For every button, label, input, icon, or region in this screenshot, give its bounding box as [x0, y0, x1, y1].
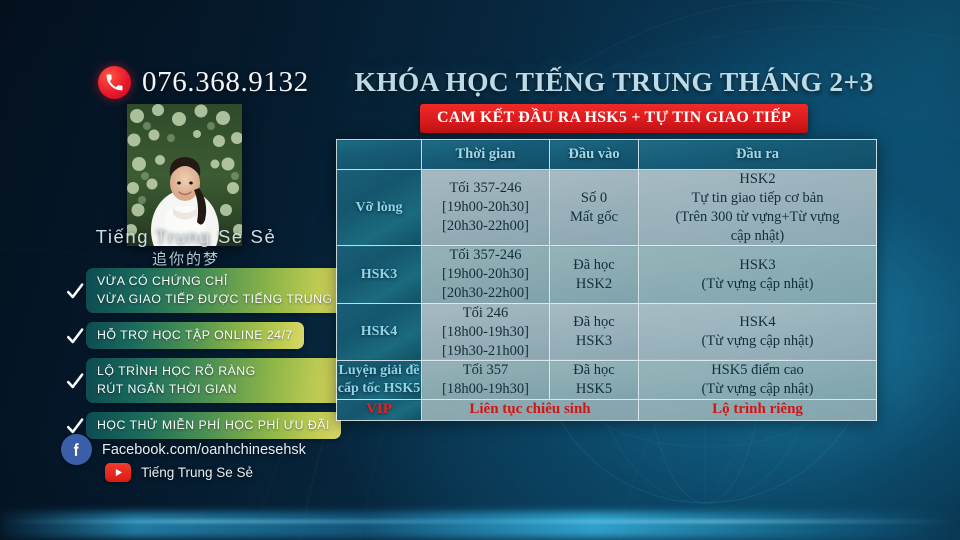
- check-icon: [64, 372, 86, 390]
- column-header-level: [337, 140, 422, 170]
- table-row: Luyện giải đề cấp tốc HSK5 Tối 357 [18h0…: [337, 361, 877, 400]
- vip-level-cell: VIP: [337, 400, 422, 421]
- bottom-light-line: [0, 520, 960, 523]
- output-cell: HSK5 điểm cao (Từ vựng cập nhật): [639, 361, 877, 400]
- level-cell: HSK3: [337, 246, 422, 304]
- time-line: Tối 357: [422, 361, 549, 380]
- input-line: HSK2: [550, 275, 638, 294]
- benefit-line: VỪA GIAO TIẾP ĐƯỢC TIẾNG TRUNG: [97, 292, 333, 306]
- facebook-icon: [61, 434, 92, 465]
- brand-name: Tiếng Trung Se Sẻ: [56, 226, 316, 248]
- output-line: (Trên 300 từ vựng+Từ vựng: [639, 208, 876, 227]
- time-line: [20h30-22h00]: [422, 217, 549, 236]
- brand-slogan: 追你的梦: [56, 248, 316, 269]
- output-line: (Từ vựng cập nhật): [639, 380, 876, 399]
- benefit-line: HỌC PHÍ ƯU ĐÃI: [225, 418, 330, 432]
- table-row: HSK3 Tối 357-246 [19h00-20h30] [20h30-22…: [337, 246, 877, 304]
- input-line: Số 0: [550, 189, 638, 208]
- output-cell: HSK4 (Từ vựng cập nhật): [639, 303, 877, 361]
- vip-path-cell: Lộ trình riêng: [639, 400, 877, 421]
- time-line: [18h00-19h30]: [422, 323, 549, 342]
- time-cell: Tối 357-246 [19h00-20h30] [20h30-22h00]: [422, 170, 550, 246]
- benefit-item: VỪA CÓ CHỨNG CHỈ VỪA GIAO TIẾP ĐƯỢC TIẾN…: [64, 268, 344, 313]
- time-line: Tối 357-246: [422, 179, 549, 198]
- column-header-output: Đầu ra: [639, 140, 877, 170]
- output-cell: HSK3 (Từ vựng cập nhật): [639, 246, 877, 304]
- time-line: [19h30-21h00]: [422, 342, 549, 361]
- level-line: Vỡ lòng: [355, 200, 402, 215]
- level-line: HSK5: [384, 381, 421, 396]
- output-line: HSK2: [639, 170, 876, 189]
- table-header-row: Thời gian Đầu vào Đầu ra: [337, 140, 877, 170]
- output-line: Tự tin giao tiếp cơ bản: [639, 189, 876, 208]
- benefit-line: LỘ TRÌNH HỌC RÕ RÀNG: [97, 364, 256, 378]
- teacher-photo: [127, 104, 242, 246]
- time-cell: Tối 357 [18h00-19h30]: [422, 361, 550, 400]
- input-cell: Đã học HSK2: [550, 246, 639, 304]
- phone-icon: [98, 66, 131, 99]
- level-cell: Luyện giải đề cấp tốc HSK5: [337, 361, 422, 400]
- benefit-line: VỪA CÓ CHỨNG CHỈ: [97, 274, 228, 288]
- benefit-pill: HỖ TRỢ HỌC TẬP ONLINE 24/7: [86, 322, 304, 349]
- commitment-banner: CAM KẾT ĐẦU RA HSK5 + TỰ TIN GIAO TIẾP: [420, 104, 808, 133]
- input-line: Đã học: [550, 361, 638, 380]
- time-cell: Tối 246 [18h00-19h30] [19h30-21h00]: [422, 303, 550, 361]
- column-header-input: Đầu vào: [550, 140, 639, 170]
- level-line: HSK3: [361, 267, 398, 282]
- check-icon: [64, 282, 86, 300]
- table-row-vip: VIP Liên tục chiêu sinh Lộ trình riêng: [337, 400, 877, 421]
- youtube-channel: Tiếng Trung Se Sẻ: [141, 465, 253, 480]
- input-line: Mất gốc: [550, 208, 638, 227]
- level-line: Luyện giải: [339, 363, 402, 378]
- level-line: HSK4: [361, 324, 398, 339]
- bottom-light-streak: [0, 512, 960, 538]
- benefit-line: RÚT NGẮN THỜI GIAN: [97, 382, 237, 396]
- time-line: [18h00-19h30]: [422, 380, 549, 399]
- level-cell: HSK4: [337, 303, 422, 361]
- time-line: [19h00-20h30]: [422, 265, 549, 284]
- phone-contact[interactable]: 076.368.9132: [98, 66, 309, 99]
- time-line: Tối 246: [422, 304, 549, 323]
- output-line: HSK4: [639, 313, 876, 332]
- input-cell: Đã học HSK5: [550, 361, 639, 400]
- input-line: Đã học: [550, 313, 638, 332]
- youtube-link[interactable]: Tiếng Trung Se Sẻ: [105, 463, 253, 482]
- level-cell: Vỡ lòng: [337, 170, 422, 246]
- column-header-time: Thời gian: [422, 140, 550, 170]
- input-line: Đã học: [550, 256, 638, 275]
- input-line: HSK5: [550, 380, 638, 399]
- benefit-pill: LỘ TRÌNH HỌC RÕ RÀNG RÚT NGẮN THỜI GIAN: [86, 358, 344, 403]
- check-icon: [64, 417, 86, 435]
- output-line: HSK3: [639, 256, 876, 275]
- input-cell: Đã học HSK3: [550, 303, 639, 361]
- benefit-pill: VỪA CÓ CHỨNG CHỈ VỪA GIAO TIẾP ĐƯỢC TIẾN…: [86, 268, 344, 313]
- output-line: cập nhật): [639, 227, 876, 246]
- facebook-link[interactable]: Facebook.com/oanhchinesehsk: [61, 434, 306, 465]
- phone-number: 076.368.9132: [142, 66, 309, 99]
- benefit-item: LỘ TRÌNH HỌC RÕ RÀNG RÚT NGẮN THỜI GIAN: [64, 358, 344, 403]
- time-cell: Tối 357-246 [19h00-20h30] [20h30-22h00]: [422, 246, 550, 304]
- input-cell: Số 0 Mất gốc: [550, 170, 639, 246]
- page-title: KHÓA HỌC TIẾNG TRUNG THÁNG 2+3: [330, 66, 898, 98]
- output-line: HSK5 điểm cao: [639, 361, 876, 380]
- table-row: Vỡ lòng Tối 357-246 [19h00-20h30] [20h30…: [337, 170, 877, 246]
- time-line: [19h00-20h30]: [422, 198, 549, 217]
- benefit-line: HỖ TRỢ HỌC TẬP ONLINE 24/7: [97, 328, 293, 342]
- table-row: HSK4 Tối 246 [18h00-19h30] [19h30-21h00]…: [337, 303, 877, 361]
- course-schedule-table: Thời gian Đầu vào Đầu ra Vỡ lòng Tối 357…: [336, 139, 877, 421]
- benefits-list: VỪA CÓ CHỨNG CHỈ VỪA GIAO TIẾP ĐƯỢC TIẾN…: [64, 268, 344, 448]
- top-light-strip: [0, 0, 960, 7]
- output-cell: HSK2 Tự tin giao tiếp cơ bản (Trên 300 t…: [639, 170, 877, 246]
- commitment-wrap: CAM KẾT ĐẦU RA HSK5 + TỰ TIN GIAO TIẾP: [330, 104, 898, 133]
- input-line: HSK3: [550, 332, 638, 351]
- facebook-url: Facebook.com/oanhchinesehsk: [102, 442, 306, 458]
- benefit-line: HỌC THỬ MIỄN PHÍ: [97, 418, 221, 432]
- benefit-item: HỖ TRỢ HỌC TẬP ONLINE 24/7: [64, 322, 344, 349]
- output-line: (Từ vựng cập nhật): [639, 332, 876, 351]
- time-line: [20h30-22h00]: [422, 284, 549, 303]
- check-icon: [64, 327, 86, 345]
- vip-enrollment-cell: Liên tục chiêu sinh: [422, 400, 639, 421]
- youtube-icon: [105, 463, 131, 482]
- time-line: Tối 357-246: [422, 246, 549, 265]
- output-line: (Từ vựng cập nhật): [639, 275, 876, 294]
